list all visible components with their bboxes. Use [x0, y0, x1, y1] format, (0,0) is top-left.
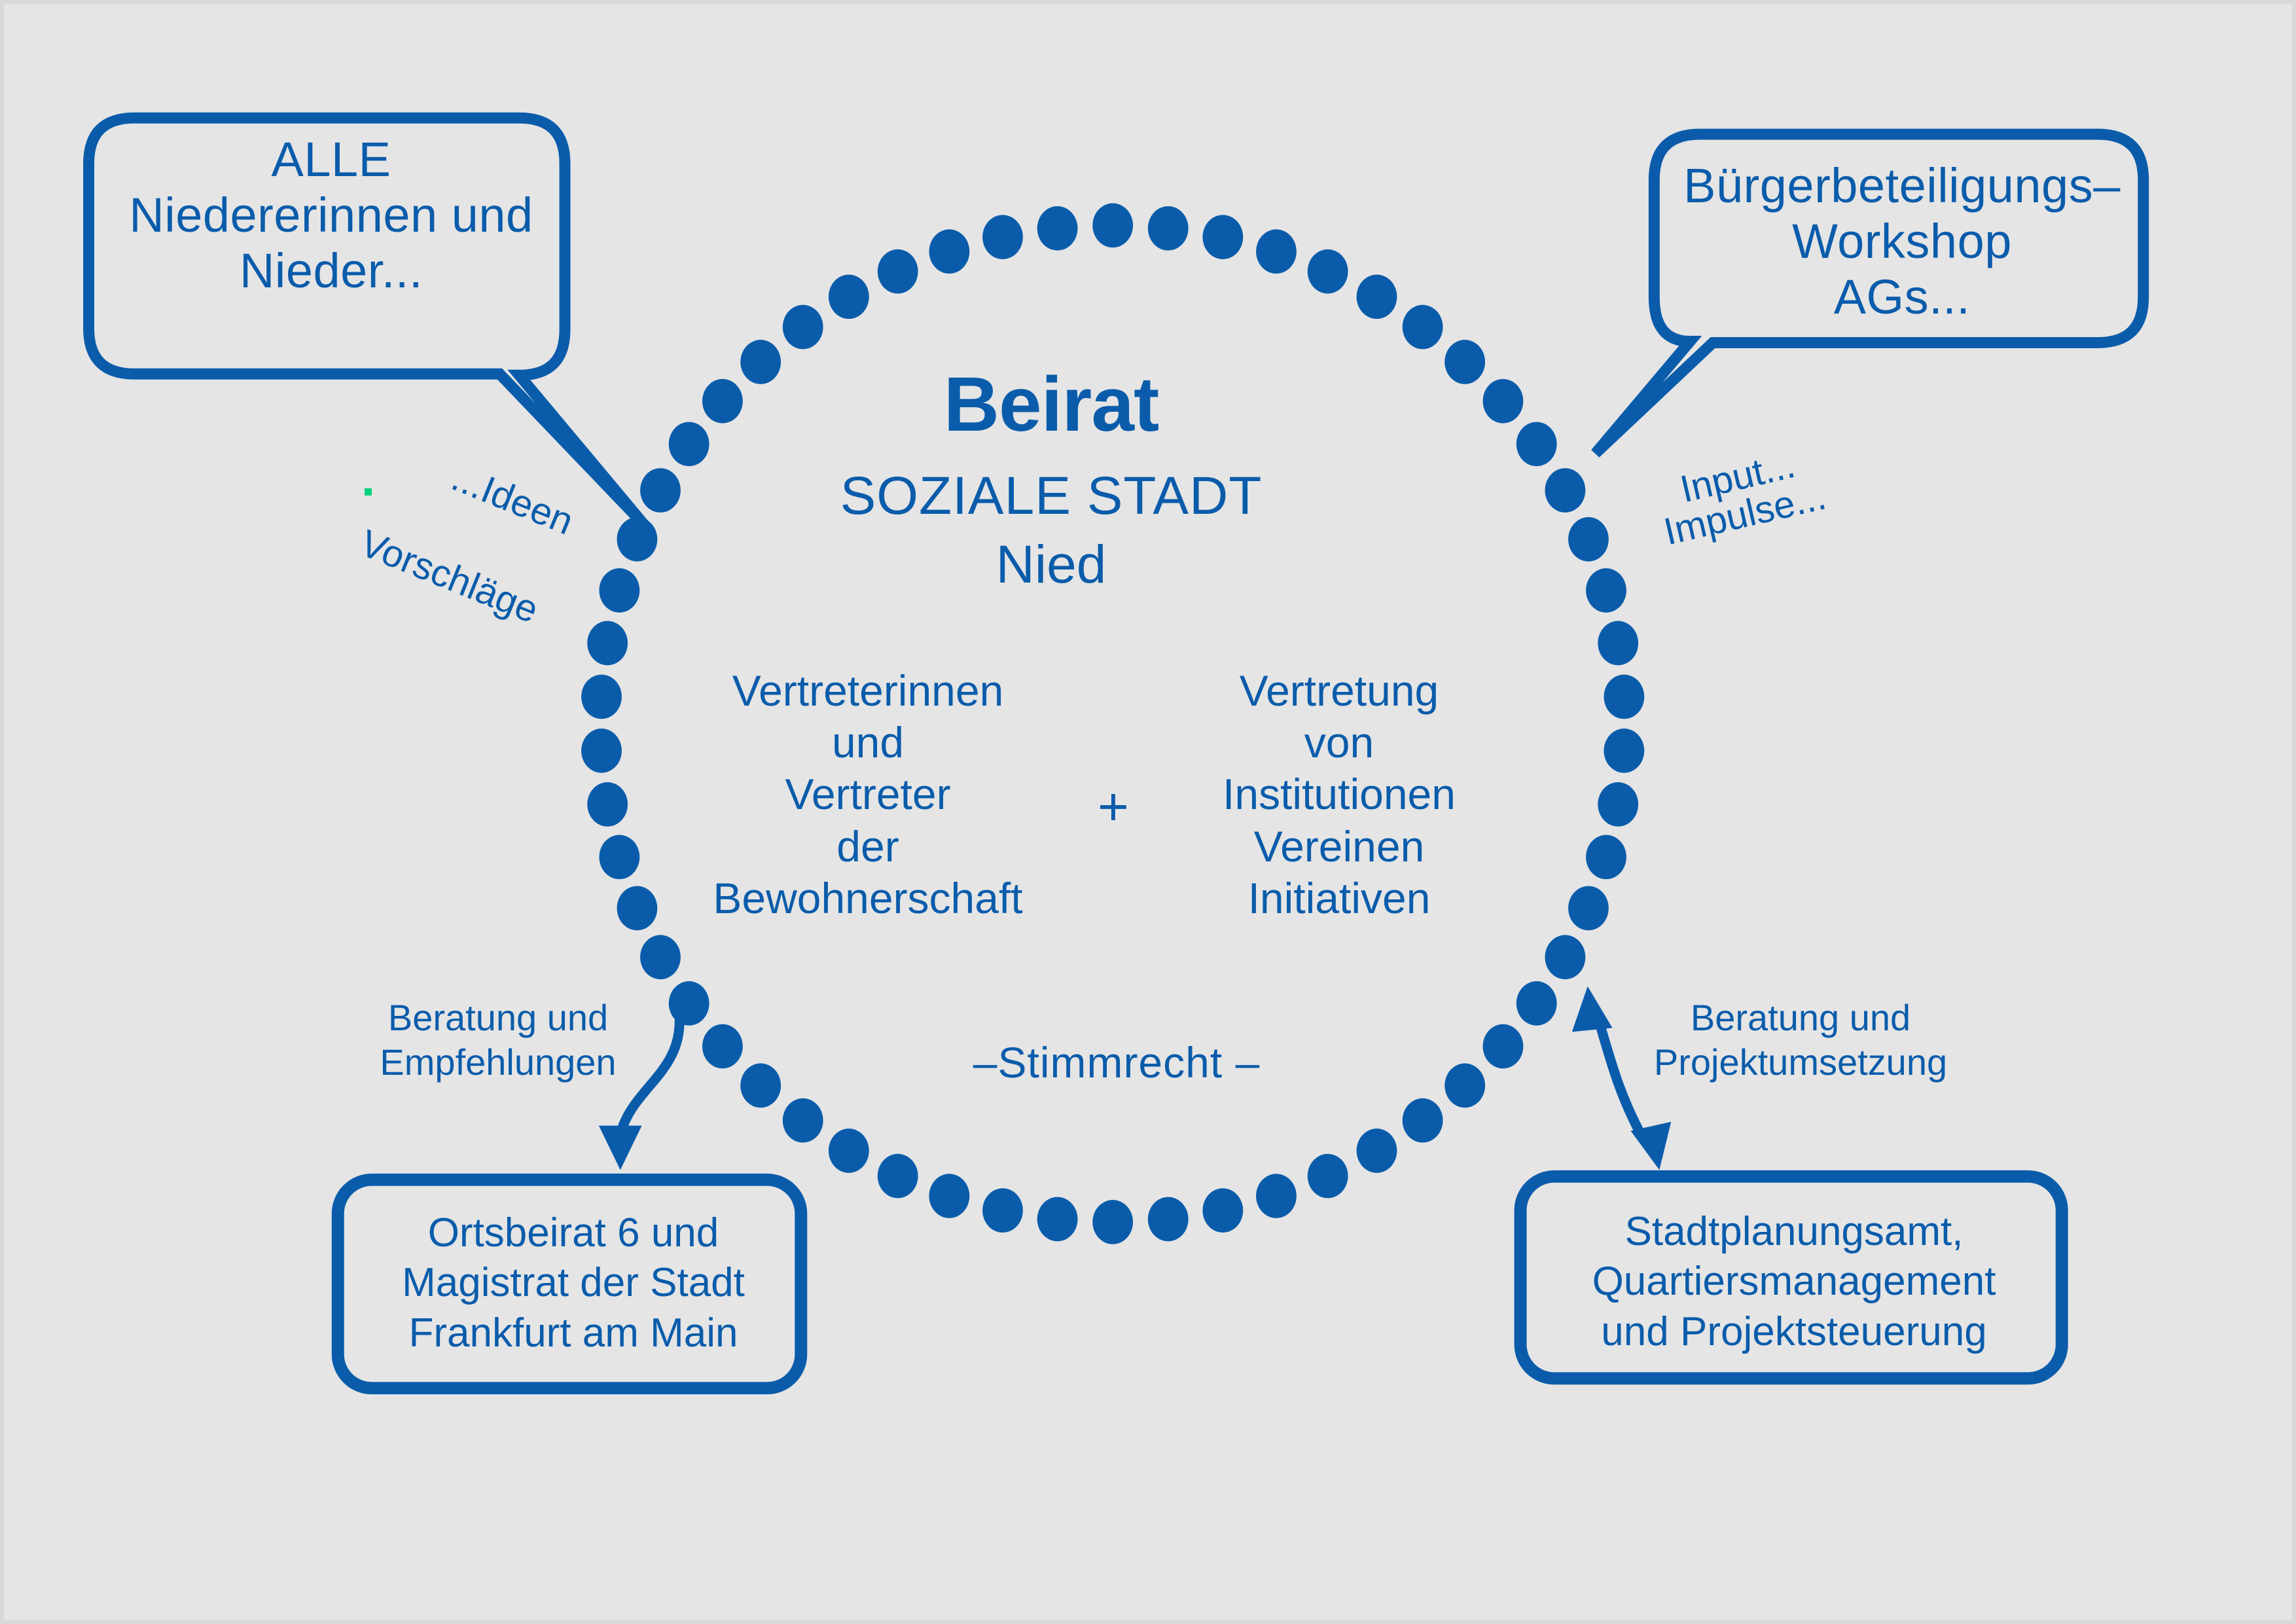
- circle-dot: [1568, 517, 1609, 562]
- circle-dot: [1403, 305, 1443, 350]
- circle-dot: [982, 1188, 1023, 1233]
- circle-dot: [1598, 782, 1638, 827]
- circle-dot: [1545, 468, 1585, 513]
- circle-dot: [669, 422, 709, 467]
- circle-dot: [1148, 1197, 1189, 1242]
- circle-dot: [929, 1174, 969, 1218]
- circle-dot: [1357, 274, 1397, 319]
- circle-dot: [829, 274, 869, 319]
- circle-dot: [1202, 215, 1243, 259]
- box-bottom-left-text: Ortsbeirat 6 und Magistrat der Stadt Fra…: [338, 1208, 809, 1358]
- circle-dot: [581, 675, 622, 719]
- circle-dot: [1516, 422, 1557, 467]
- circle-dot: [829, 1128, 869, 1173]
- circle-dot: [702, 1024, 743, 1069]
- circle-dot: [1148, 206, 1189, 251]
- circle-dot: [1604, 675, 1644, 719]
- voting-rights-note: –Stimmrecht –: [874, 1038, 1359, 1088]
- plus-icon: +: [1071, 776, 1156, 838]
- page-location: Nied: [757, 534, 1346, 596]
- circle-dot: [1586, 568, 1626, 613]
- circle-dot: [1092, 204, 1133, 248]
- circle-dot: [702, 379, 743, 424]
- circle-dot: [878, 249, 918, 294]
- circle-dot: [1516, 981, 1557, 1026]
- circle-dot: [640, 468, 681, 513]
- circle-dot: [599, 835, 639, 879]
- circle-dot: [1308, 1154, 1348, 1199]
- diagram-canvas: ALLE Niedererinnen und Nieder... Bürgerb…: [0, 0, 2296, 1624]
- circle-dot: [617, 886, 658, 931]
- circle-dot: [1256, 229, 1297, 274]
- annotation-beratung-empfehlungen: Beratung und Empfehlungen: [334, 996, 662, 1085]
- circle-dot: [1483, 1024, 1524, 1069]
- circle-dot: [587, 782, 628, 827]
- circle-dot: [1604, 729, 1644, 773]
- circle-dot: [1092, 1200, 1133, 1244]
- circle-dot: [1586, 835, 1626, 879]
- circle-dot: [581, 729, 622, 773]
- circle-dot: [640, 935, 681, 979]
- circle-dot: [1308, 249, 1348, 294]
- circle-dot: [1403, 1098, 1443, 1143]
- circle-dot: [1444, 1064, 1485, 1108]
- circle-dot: [587, 621, 628, 666]
- member-column-institutions: Vertretung von Institutionen Vereinen In…: [1175, 665, 1503, 924]
- circle-dot: [1202, 1188, 1243, 1233]
- circle-dot: [1037, 206, 1078, 251]
- speech-bubble-left-text: ALLE Niedererinnen und Nieder...: [102, 132, 560, 298]
- circle-dot: [740, 1064, 781, 1108]
- circle-dot: [1357, 1128, 1397, 1173]
- circle-dot: [929, 229, 969, 274]
- circle-dot: [1444, 340, 1485, 384]
- circle-dot: [1256, 1174, 1297, 1218]
- circle-dot: [783, 305, 823, 350]
- box-bottom-right-text: Stadtplanungsamt, Quartiersmanagement un…: [1522, 1207, 2066, 1357]
- circle-dot: [1568, 886, 1609, 931]
- green-artifact-pixel: [365, 488, 372, 496]
- member-column-residents: Vertreterinnen und Vertreter der Bewohne…: [685, 665, 1051, 924]
- circle-dot: [1598, 621, 1638, 666]
- speech-bubble-right-text: Bürgerbeteiligungs– Workshop AGs...: [1679, 158, 2125, 325]
- page-subtitle: SOZIALE STADT: [757, 465, 1346, 527]
- circle-dot: [599, 568, 639, 613]
- page-title: Beirat: [757, 361, 1346, 450]
- circle-dot: [982, 215, 1023, 259]
- circle-dot: [1545, 935, 1585, 979]
- circle-dot: [1483, 379, 1524, 424]
- circle-dot: [1037, 1197, 1078, 1242]
- annotation-beratung-projektumsetzung: Beratung und Projektumsetzung: [1627, 996, 1974, 1085]
- circle-dot: [783, 1098, 823, 1143]
- circle-dot: [878, 1154, 918, 1199]
